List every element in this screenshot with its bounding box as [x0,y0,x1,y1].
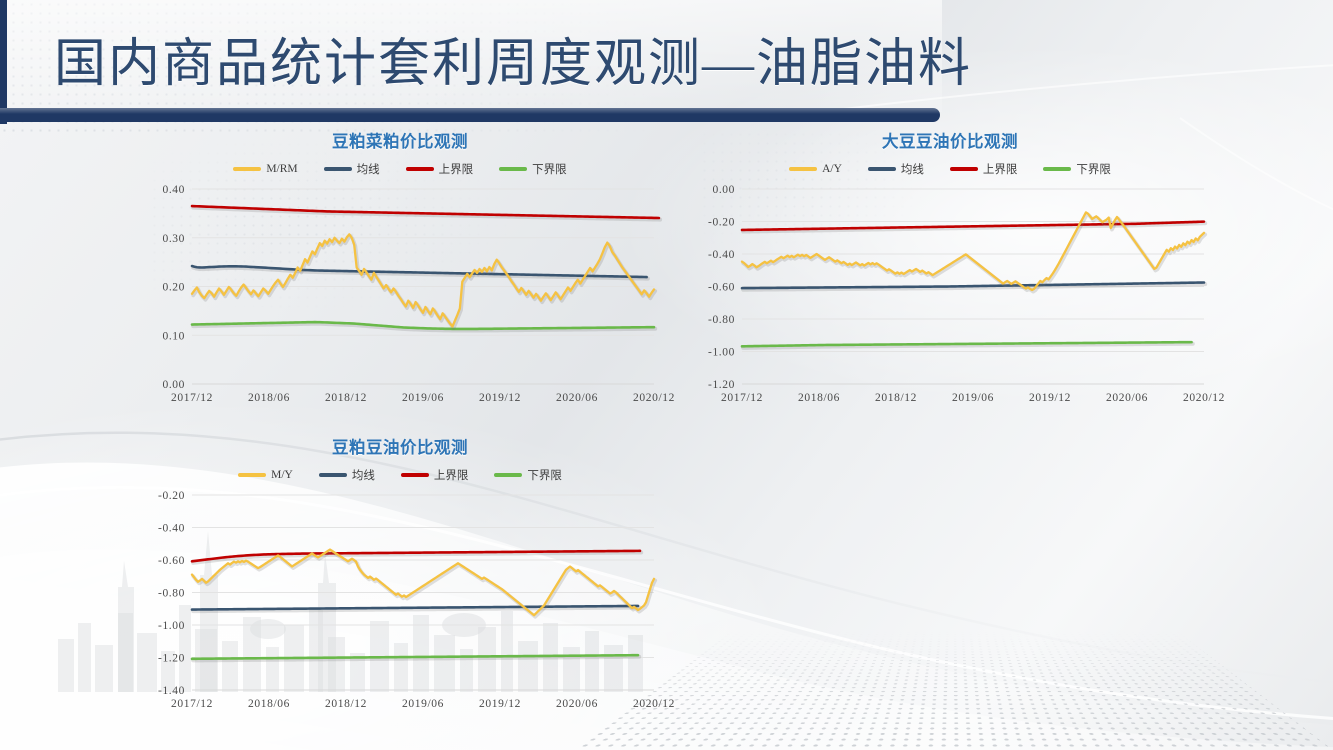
svg-text:0.00: 0.00 [712,184,735,196]
svg-text:2018/12: 2018/12 [325,392,367,404]
svg-text:-1.20: -1.20 [158,653,185,665]
legend-item-mean: 均线 [868,161,924,177]
legend-item-series: M/RM [233,163,297,175]
svg-text:-0.40: -0.40 [158,523,185,535]
svg-text:-0.20: -0.20 [708,217,735,229]
svg-text:2020/12: 2020/12 [633,392,675,404]
chart-svg: 0.400.300.200.100.002017/122018/062018/1… [140,183,660,408]
svg-text:2019/12: 2019/12 [479,698,521,710]
halftone-pattern [573,631,1333,750]
svg-text:-0.60: -0.60 [158,555,185,567]
legend-item-upper: 上界限 [406,161,474,177]
legend-label-upper: 上界限 [434,467,469,483]
legend-label-mean: 均线 [357,161,380,177]
svg-text:0.00: 0.00 [162,379,185,391]
legend-item-series: A/Y [789,163,842,175]
svg-text:2020/06: 2020/06 [1106,392,1148,404]
legend-label-series: M/Y [271,469,293,481]
legend-swatch-lower [499,167,527,171]
svg-text:-1.00: -1.00 [158,620,185,632]
legend-label-mean: 均线 [352,467,375,483]
legend-label-upper: 上界限 [983,161,1018,177]
slide-canvas: 国内商品统计套利周度观测—油脂油料 豆粕菜粕价比观测 M/RM 均线 上界限 下… [0,0,1333,750]
svg-text:-0.20: -0.20 [158,490,185,502]
svg-text:-0.80: -0.80 [708,314,735,326]
svg-text:0.40: 0.40 [162,184,185,196]
svg-text:2019/06: 2019/06 [402,392,444,404]
legend-swatch-lower [494,473,522,477]
svg-text:2019/06: 2019/06 [952,392,994,404]
page-title: 国内商品统计套利周度观测—油脂油料 [54,36,972,94]
svg-text:2019/12: 2019/12 [1029,392,1071,404]
legend-swatch-series [233,167,261,171]
chart-title: 大豆豆油价比观测 [690,128,1210,152]
legend-item-lower: 下界限 [494,467,562,483]
legend-item-upper: 上界限 [401,467,469,483]
svg-text:2020/12: 2020/12 [1183,392,1225,404]
svg-text:-0.60: -0.60 [708,282,735,294]
chart-legend: A/Y 均线 上界限 下界限 [690,161,1210,177]
legend-swatch-series [238,473,266,477]
legend-item-lower: 下界限 [499,161,567,177]
legend-label-series: M/RM [266,163,297,175]
legend-item-lower: 下界限 [1043,161,1111,177]
legend-item-mean: 均线 [319,467,375,483]
chart-title: 豆粕豆油价比观测 [140,434,660,458]
svg-text:2018/12: 2018/12 [325,698,367,710]
svg-text:-1.00: -1.00 [708,347,735,359]
legend-swatch-upper [950,167,978,171]
legend-label-series: A/Y [822,163,842,175]
legend-label-upper: 上界限 [439,161,474,177]
svg-text:0.20: 0.20 [162,282,185,294]
svg-text:-0.80: -0.80 [158,588,185,600]
legend-item-series: M/Y [238,469,293,481]
legend-swatch-mean [868,167,896,171]
svg-text:0.10: 0.10 [162,330,185,342]
legend-swatch-upper [401,473,429,477]
header-left-rail [0,0,7,124]
legend-item-upper: 上界限 [950,161,1018,177]
chart-title: 豆粕菜粕价比观测 [140,128,660,152]
svg-text:2019/06: 2019/06 [402,698,444,710]
chart-legend: M/Y 均线 上界限 下界限 [140,467,660,483]
chart-panel-doupo-caipo: 豆粕菜粕价比观测 M/RM 均线 上界限 下界限 0.400.300.200.1… [140,128,660,408]
chart-svg: -0.20-0.40-0.60-0.80-1.00-1.20-1.402017/… [140,489,660,714]
svg-text:2017/12: 2017/12 [171,698,213,710]
legend-swatch-upper [406,167,434,171]
legend-swatch-series [789,167,817,171]
chart-svg: 0.00-0.20-0.40-0.60-0.80-1.00-1.202017/1… [690,183,1210,408]
legend-label-lower: 下界限 [1076,161,1111,177]
svg-text:2018/06: 2018/06 [798,392,840,404]
legend-item-mean: 均线 [324,161,380,177]
svg-text:2017/12: 2017/12 [721,392,763,404]
svg-text:2020/06: 2020/06 [556,698,598,710]
chart-panel-doupo-douyou: 豆粕豆油价比观测 M/Y 均线 上界限 下界限 -0.20-0.40-0.60-… [140,434,660,714]
svg-text:2019/12: 2019/12 [479,392,521,404]
svg-text:2018/12: 2018/12 [875,392,917,404]
svg-text:2018/06: 2018/06 [248,698,290,710]
svg-text:2020/06: 2020/06 [556,392,598,404]
legend-label-lower: 下界限 [527,467,562,483]
legend-label-lower: 下界限 [532,161,567,177]
header-underbar-sheen [0,108,940,114]
svg-text:0.30: 0.30 [162,233,185,245]
svg-text:-1.20: -1.20 [708,379,735,391]
legend-label-mean: 均线 [901,161,924,177]
svg-text:2017/12: 2017/12 [171,392,213,404]
svg-text:2020/12: 2020/12 [633,698,675,710]
chart-legend: M/RM 均线 上界限 下界限 [140,161,660,177]
chart-panel-dadou-douyou: 大豆豆油价比观测 A/Y 均线 上界限 下界限 0.00-0.20-0.40-0… [690,128,1210,408]
chart-plot-area: 0.400.300.200.100.002017/122018/062018/1… [140,183,660,408]
chart-plot-area: -0.20-0.40-0.60-0.80-1.00-1.20-1.402017/… [140,489,660,714]
legend-swatch-mean [324,167,352,171]
legend-swatch-lower [1043,167,1071,171]
chart-plot-area: 0.00-0.20-0.40-0.60-0.80-1.00-1.202017/1… [690,183,1210,408]
svg-text:2018/06: 2018/06 [248,392,290,404]
svg-text:-0.40: -0.40 [708,249,735,261]
legend-swatch-mean [319,473,347,477]
svg-text:-1.40: -1.40 [158,685,185,697]
